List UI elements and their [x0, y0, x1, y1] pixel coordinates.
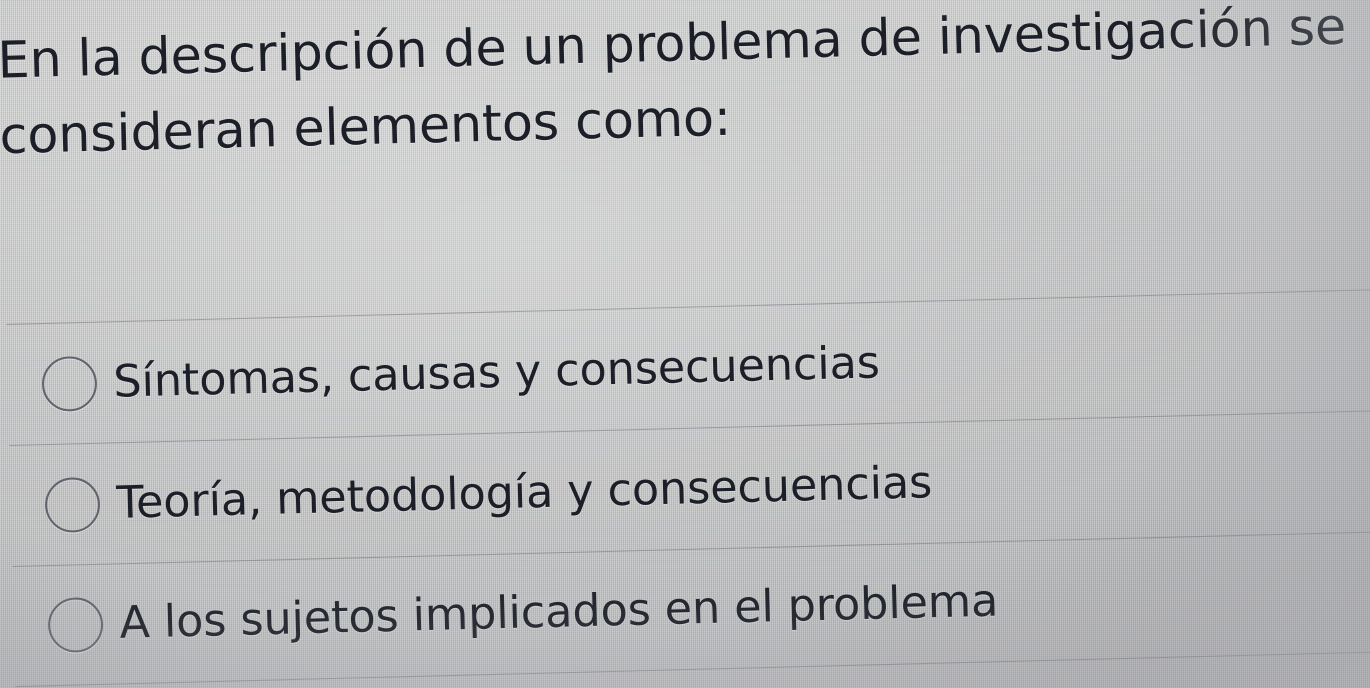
quiz-content-area: En la descripción de un problema de inve…: [0, 0, 1370, 688]
answer-options-list: Síntomas, causas y consecuencias Teoría,…: [6, 289, 1370, 687]
option-label-2[interactable]: Teoría, metodología y consecuencias: [116, 458, 933, 528]
question-text: En la descripción de un problema de inve…: [0, 0, 1370, 174]
option-label-3[interactable]: A los sujetos implicados en el problema: [119, 577, 999, 649]
radio-unchecked-icon[interactable]: [47, 597, 103, 653]
radio-unchecked-icon[interactable]: [41, 355, 97, 411]
option-label-1[interactable]: Síntomas, causas y consecuencias: [113, 338, 881, 407]
quiz-screen: En la descripción de un problema de inve…: [0, 0, 1370, 688]
radio-unchecked-icon[interactable]: [44, 476, 100, 532]
